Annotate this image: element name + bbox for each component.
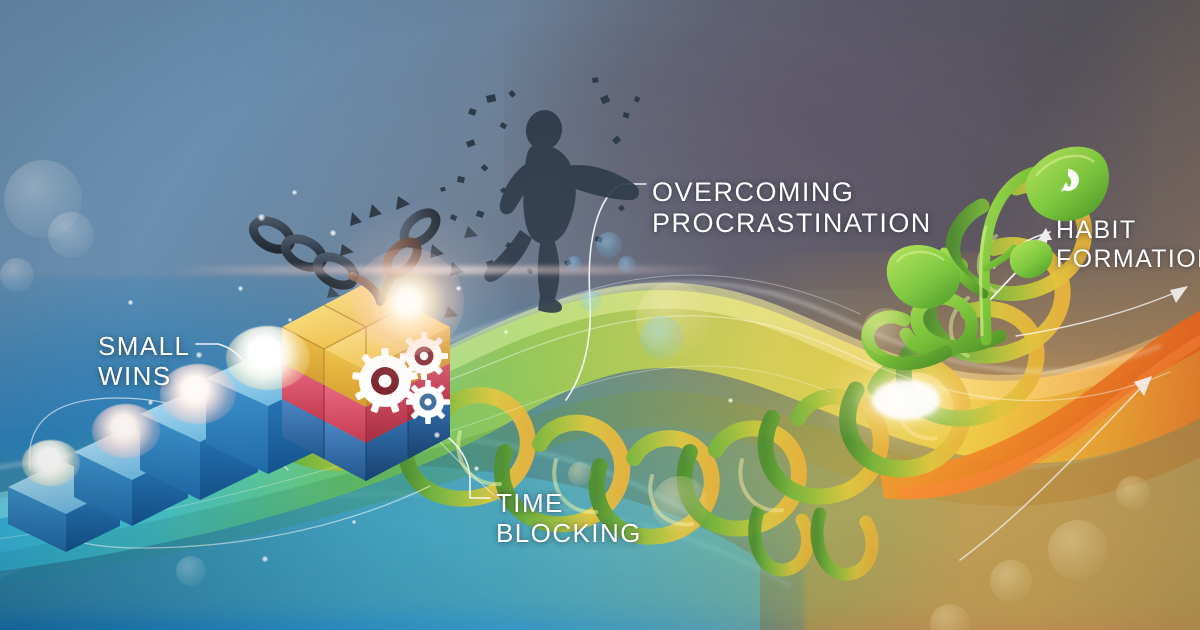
label-line-1: OVERCOMING — [652, 177, 932, 208]
label-small-wins: SMALL WINS — [98, 332, 190, 391]
label-line-2: PROCRASTINATION — [652, 208, 932, 239]
label-line-2: FORMATION — [1056, 245, 1200, 274]
label-line-1: HABIT — [1056, 216, 1200, 245]
label-habit-formation: HABIT FORMATION — [1056, 216, 1200, 273]
label-line-2: WINS — [98, 362, 190, 392]
label-time-blocking: TIME BLOCKING — [496, 489, 642, 548]
label-line-1: SMALL — [98, 332, 190, 362]
label-line-1: TIME — [496, 489, 642, 519]
label-overcoming-procrastination: OVERCOMING PROCRASTINATION — [652, 177, 932, 239]
label-line-2: BLOCKING — [496, 519, 642, 549]
illustration-canvas: OVERCOMING PROCRASTINATION HABIT FORMATI… — [0, 0, 1200, 630]
